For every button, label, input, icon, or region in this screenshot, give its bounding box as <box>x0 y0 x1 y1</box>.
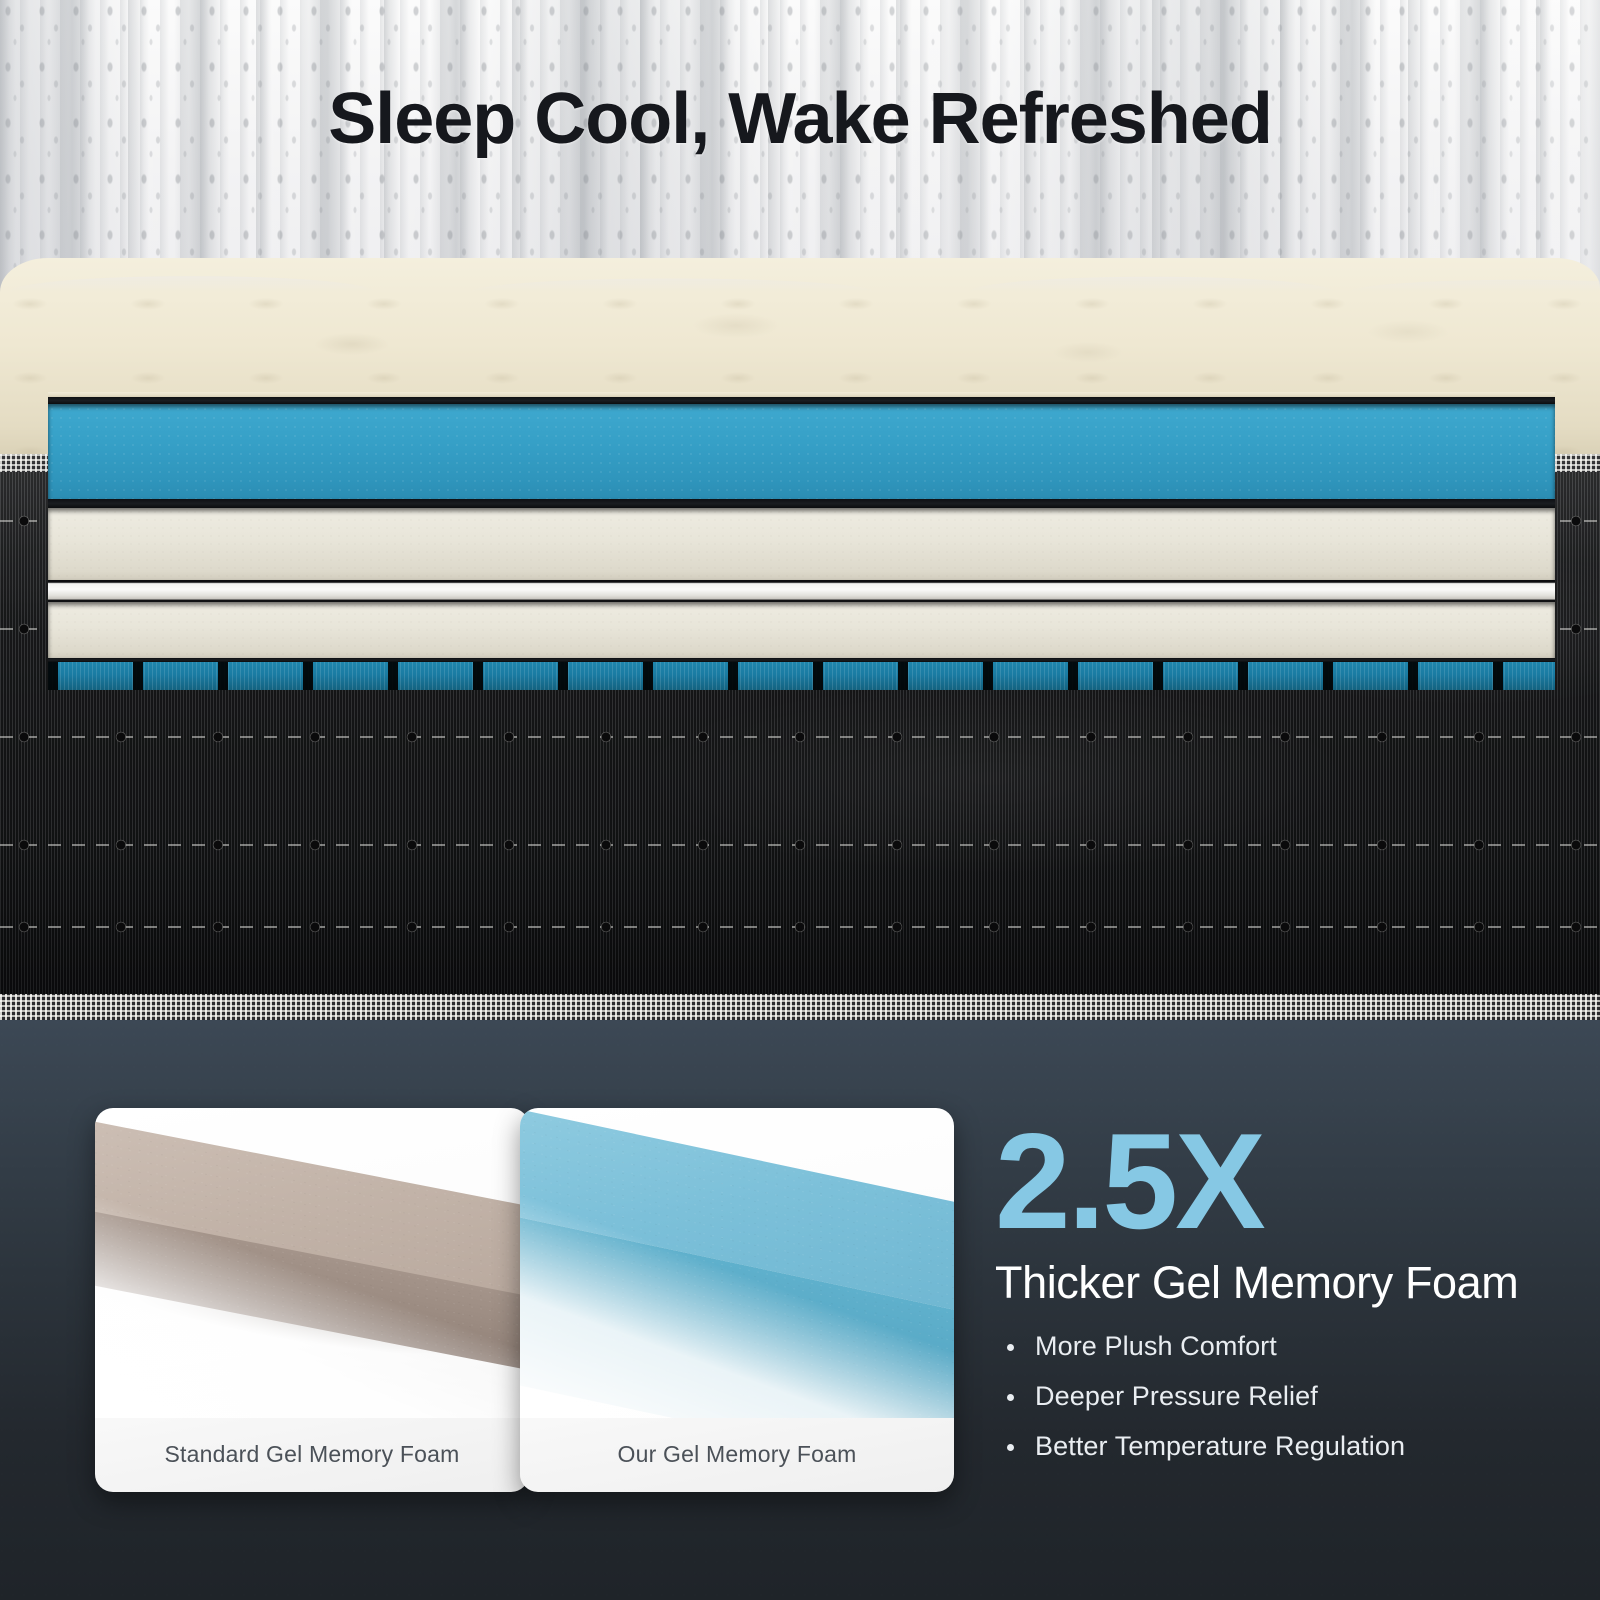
layer-cutaway <box>48 392 1555 792</box>
our-foam-photo <box>520 1108 954 1418</box>
quilt-top-edge-wave <box>0 258 1600 292</box>
page-title: Sleep Cool, Wake Refreshed <box>0 78 1600 160</box>
layer-comfort-foam <box>48 508 1555 580</box>
our-foam-caption: Our Gel Memory Foam <box>520 1416 954 1492</box>
side-panel-grommet-row <box>0 836 1600 854</box>
standard-foam-caption: Standard Gel Memory Foam <box>95 1416 529 1492</box>
benefit-list: More Plush Comfort Deeper Pressure Relie… <box>995 1331 1595 1462</box>
cutaway-seam-line <box>48 499 1555 508</box>
lower-mesh-piping <box>0 994 1600 1022</box>
product-infographic: Sleep Cool, Wake Refreshed Standard Gel … <box>0 0 1600 1600</box>
comparison-section: Standard Gel Memory Foam Our Gel Memory … <box>0 1020 1600 1600</box>
hero-scene: Sleep Cool, Wake Refreshed <box>0 0 1600 1022</box>
standard-foam-photo <box>95 1108 529 1418</box>
list-item: More Plush Comfort <box>995 1331 1595 1362</box>
list-item: Deeper Pressure Relief <box>995 1381 1595 1412</box>
foam-card-ours: Our Gel Memory Foam <box>520 1108 954 1492</box>
mattress-cross-section <box>0 258 1600 1022</box>
foam-card-standard: Standard Gel Memory Foam <box>95 1108 529 1492</box>
stat-callout: 2.5X Thicker Gel Memory Foam More Plush … <box>995 1116 1595 1481</box>
photo-white-backdrop <box>95 1108 529 1418</box>
stat-value: 2.5X <box>995 1116 1595 1247</box>
list-item: Better Temperature Regulation <box>995 1431 1595 1462</box>
photo-white-backdrop <box>520 1108 954 1418</box>
side-panel-grommet-row <box>0 918 1600 936</box>
layer-support-foam <box>48 602 1555 658</box>
layer-transition-divider <box>48 580 1555 602</box>
coil-texture <box>48 662 1555 690</box>
stat-subtitle: Thicker Gel Memory Foam <box>995 1257 1595 1309</box>
layer-pocketed-coils <box>48 662 1555 690</box>
layer-cooling-gel-memory-foam <box>48 404 1555 499</box>
cutaway-seam-line <box>48 397 1555 404</box>
